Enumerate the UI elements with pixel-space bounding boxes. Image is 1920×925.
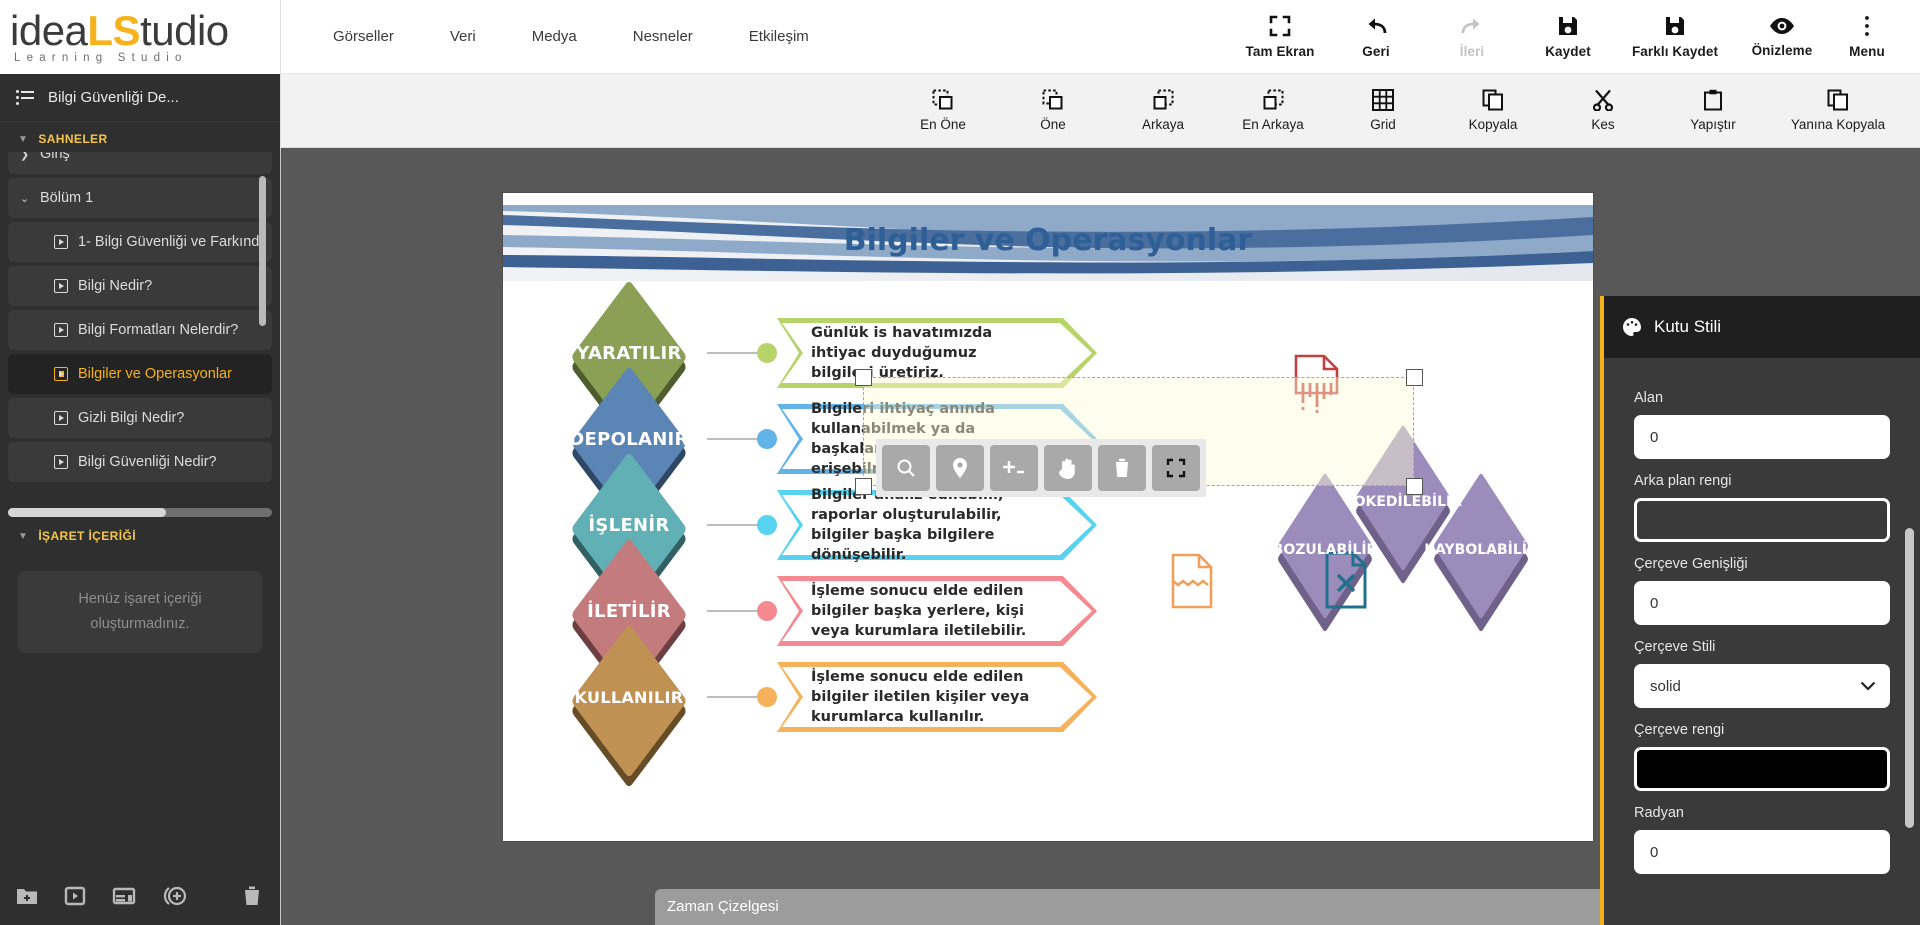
add-slide-icon[interactable] [64,886,86,906]
chevron-down-icon: ▼ [18,134,28,145]
diamond-label: YARATILIR [551,305,707,401]
border-width-input[interactable]: 0 [1634,581,1890,625]
sidebar-item-label: 1- Bilgi Güvenliği ve Farkınd [78,234,259,250]
diamond-label: DEPOLANIR [551,391,707,487]
undo-label: Geri [1362,44,1389,59]
slide-icon [54,367,68,381]
copy-label: Kopyala [1469,117,1518,132]
save-button[interactable]: Kaydet [1520,15,1616,59]
field-label-arka-plan-rengi: Arka plan rengi [1634,473,1890,489]
bring-forward-icon [1042,89,1064,111]
logo-wordmark: ideaLStudio [10,10,229,52]
logo-prefix: idea [10,7,87,54]
selection-handle-tl[interactable] [855,369,872,386]
slide-icon [54,279,68,293]
add-layout-icon[interactable] [112,886,136,906]
marks-empty-state: Henüz işaret içeriği oluşturmadınız. [18,571,262,653]
border-color-swatch[interactable] [1634,747,1890,791]
border-width-value: 0 [1650,595,1658,612]
diamond-yaratilir[interactable]: YARATILIR [551,305,707,401]
marks-empty-line-2: oluşturmadınız. [90,612,189,637]
add-folder-icon[interactable] [16,886,38,906]
undo-button[interactable]: Geri [1328,15,1424,59]
project-title: Bilgi Güvenliği De... [48,89,179,106]
field-label-alan: Alan [1634,390,1890,406]
trash-icon[interactable] [1098,445,1146,491]
redo-label: İleri [1460,44,1485,59]
banner-text: İşleme sonucu elde edilen bilgiler başka… [811,581,1037,641]
save-as-button[interactable]: Farklı Kaydet [1616,15,1734,59]
scenes-section-header[interactable]: ▼ SAHNELER [0,122,280,152]
chevron-down-icon [1860,681,1876,691]
grid-label: Grid [1370,117,1396,132]
chevron-right-icon: ❯ [20,152,30,161]
field-label-cerceve-stili: Çerçeve Stili [1634,639,1890,655]
right-panel-body: Alan 0 Arka plan rengi Çerçeve Genişliği… [1604,358,1920,925]
sidebar-item-label: Bilgi Formatları Nelerdir? [78,322,238,338]
sidebar-footer-toolbar [0,867,280,925]
scene-list: ❯ Giriş ⌄ Bölüm 1 1- Bilgi Güvenliği ve … [0,152,280,502]
preview-label: Önizleme [1752,43,1813,58]
paste-button[interactable]: Yapıştır [1658,89,1768,132]
sidebar-item-bolum-1[interactable]: ⌄ Bölüm 1 [8,178,272,218]
hand-icon[interactable] [1044,445,1092,491]
border-style-value: solid [1650,678,1681,695]
kebab-menu-icon [1863,15,1871,37]
menu-label: Menu [1849,44,1885,59]
torn-doc-icon [1171,553,1213,609]
selection-handle-bl[interactable] [855,478,872,495]
paste-icon [1703,89,1723,111]
sidebar-item-slide-1[interactable]: 1- Bilgi Güvenliği ve Farkınd [8,222,272,262]
scene-list-hscrollbar[interactable] [8,508,272,517]
connector-line [707,610,763,612]
slide-icon [54,235,68,249]
menu-button[interactable]: Menu [1830,15,1904,59]
save-icon [1557,15,1579,37]
send-to-back-icon [1262,89,1284,111]
tab-nesneler[interactable]: Nesneler [605,20,721,53]
connector-line [707,524,763,526]
expand-icon[interactable] [1152,445,1200,491]
sidebar-item-label: Bölüm 1 [40,190,93,206]
duplicate-button[interactable]: Yanına Kopyala [1768,89,1908,132]
right-properties-panel: Kutu Stili Alan 0 Arka plan rengi Çerçev… [1600,296,1920,925]
field-label-radyan: Radyan [1634,805,1890,821]
fullscreen-icon [1269,15,1291,37]
connector-knob [757,343,777,363]
connector-line [707,352,763,354]
step-row-5[interactable]: KULLANILIR İşleme sonucu elde edilen bil… [551,649,1171,745]
sidebar-item-label: Bilgi Güvenliği Nedir? [78,454,217,470]
diamond-label: KULLANILIR [551,649,707,745]
sidebar-item-slide-2[interactable]: Bilgi Nedir? [8,266,272,306]
connector-line [707,696,763,698]
infographic: Bilgiler ve Operasyonlar YARATILIR [503,193,1593,841]
radius-value: 0 [1650,844,1658,861]
top-toolbar: Görseller Veri Medya Nesneler Etkileşim … [280,0,1920,74]
fullscreen-button[interactable]: Tam Ekran [1232,15,1328,59]
alan-value: 0 [1650,429,1658,446]
tab-gorseller[interactable]: Görseller [305,20,422,53]
fullscreen-label: Tam Ekran [1246,44,1315,59]
right-panel-header: Kutu Stili [1604,296,1920,358]
banner-islenir[interactable]: Bilgiler analiz edilebilir, raporlar olu… [777,490,1097,560]
logo-suffix: tudio [140,7,229,54]
diamond-label: İŞLENİR [551,477,707,573]
main-area: Görseller Veri Medya Nesneler Etkileşim … [280,0,1920,925]
app-logo: ideaLStudio Learning Studio [0,0,280,74]
eye-icon [1769,16,1795,36]
duplicate-icon [1827,89,1849,111]
arrange-toolbar: En Öne Öne Arkaya En Arkaya [280,74,1920,148]
save-as-label: Farklı Kaydet [1632,44,1718,59]
diamond-depolanir[interactable]: DEPOLANIR [551,391,707,487]
object-float-toolbar [876,439,1206,497]
chevron-down-icon: ⌄ [20,192,30,205]
connector-knob [757,601,777,621]
background-color-swatch[interactable] [1634,498,1890,542]
send-to-back-label: En Arkaya [1242,117,1304,132]
marks-header-label: İŞARET İÇERİĞİ [38,529,136,543]
bring-to-front-icon [932,89,954,111]
connector-knob [757,515,777,535]
cut-button[interactable]: Kes [1548,89,1658,132]
sidebar-item-giris[interactable]: ❯ Giriş [8,152,272,174]
bring-to-front-label: En Öne [920,117,966,132]
list-icon [16,91,34,105]
diamond-iletilir[interactable]: İLETİLİR [551,563,707,659]
block-bozulabilir[interactable]: BOZULABİLİR [1237,503,1413,597]
logo-tagline: Learning Studio [10,53,229,65]
delete-icon[interactable] [242,885,262,907]
bring-forward-label: Öne [1040,117,1066,132]
send-backward-icon [1152,89,1174,111]
sidebar-item-label: Bilgi Nedir? [78,278,152,294]
project-title-row[interactable]: Bilgi Güvenliği De... [0,74,280,122]
slide-icon [54,411,68,425]
pin-icon[interactable] [936,445,984,491]
bring-forward-button[interactable]: Öne [998,89,1108,132]
redo-icon [1460,15,1484,37]
sidebar-item-slide-3[interactable]: Bilgi Formatları Nelerdir? [8,310,272,350]
slide-canvas[interactable]: Bilgiler ve Operasyonlar YARATILIR [503,193,1593,841]
diamond-islenir[interactable]: İŞLENİR [551,477,707,573]
send-backward-button[interactable]: Arkaya [1108,89,1218,132]
palette-icon [1622,317,1642,337]
block-label: BOZULABİLİR [1237,503,1413,597]
right-panel-title: Kutu Stili [1654,317,1721,337]
field-label-cerceve-rengi: Çerçeve rengi [1634,722,1890,738]
sidebar-item-label: Bilgiler ve Operasyonlar [78,366,232,382]
zoom-icon[interactable] [882,445,930,491]
connector-line [707,438,763,440]
preview-button[interactable]: Önizleme [1734,16,1830,58]
field-label-cerceve-genisligi: Çerçeve Genişliği [1634,556,1890,572]
tab-veri[interactable]: Veri [422,20,504,53]
banner-text: İşleme sonucu elde edilen bilgiler ileti… [811,667,1037,727]
editor-stage[interactable]: Bilgiler ve Operasyonlar YARATILIR [280,148,1920,925]
slide-icon [54,323,68,337]
zoom-in-out-icon[interactable] [990,445,1038,491]
sidebar-item-label: Gizli Bilgi Nedir? [78,410,184,426]
menu-tab-bar: Görseller Veri Medya Nesneler Etkileşim [281,20,837,53]
sidebar-item-slide-6[interactable]: Bilgi Güvenliği Nedir? [8,442,272,482]
marks-empty-line-1: Henüz işaret içeriği [78,587,201,612]
grid-icon [1372,89,1394,111]
sidebar-item-label: Giriş [40,152,70,162]
chevron-down-icon: ▼ [18,531,28,542]
alan-input[interactable]: 0 [1634,415,1890,459]
scene-list-scrollbar[interactable] [259,176,266,326]
slide-title: Bilgiler ve Operasyonlar [503,223,1593,258]
send-to-back-button[interactable]: En Arkaya [1218,89,1328,132]
scenes-header-label: SAHNELER [38,132,107,146]
block-label: KAYBOLABİLİR [1393,503,1569,597]
copy-button[interactable]: Kopyala [1438,89,1548,132]
banner-text: Günlük is havatımızda ihtiyac duyduğumuz… [811,323,1037,383]
redo-button[interactable]: İleri [1424,15,1520,59]
banner-iletilir[interactable]: İşleme sonucu elde edilen bilgiler başka… [777,576,1097,646]
cut-icon [1592,89,1614,111]
grid-button[interactable]: Grid [1328,89,1438,132]
right-panel-scrollbar[interactable] [1905,528,1914,828]
send-backward-label: Arkaya [1142,117,1184,132]
marks-section-header[interactable]: ▼ İŞARET İÇERİĞİ [0,519,280,549]
connector-knob [757,429,777,449]
connector-knob [757,687,777,707]
selection-handle-br[interactable] [1406,478,1423,495]
sidebar-item-slide-4[interactable]: Bilgiler ve Operasyonlar [8,354,272,394]
tab-etkilesim[interactable]: Etkileşim [721,20,837,53]
top-action-buttons: Tam Ekran Geri İleri [1232,15,1920,59]
radius-input[interactable]: 0 [1634,830,1890,874]
cut-label: Kes [1591,117,1614,132]
left-sidebar: ideaLStudio Learning Studio Bilgi Güvenl… [0,0,280,925]
sidebar-item-slide-5[interactable]: Gizli Bilgi Nedir? [8,398,272,438]
diamond-label: İLETİLİR [551,563,707,659]
paste-label: Yapıştır [1690,117,1736,132]
step-row-4[interactable]: İLETİLİR İşleme sonucu elde edilen bilgi… [551,563,1171,659]
banner-text: Bilgiler analiz edilebilir, raporlar olu… [811,485,1037,565]
timeline-tab-label: Zaman Çizelgesi [667,898,779,915]
undo-icon [1364,15,1388,37]
border-style-select[interactable]: solid [1634,664,1890,708]
slide-icon [54,455,68,469]
duplicate-label: Yanına Kopyala [1791,117,1885,132]
diamond-kullanilir[interactable]: KULLANILIR [551,649,707,745]
add-element-icon[interactable] [162,885,188,907]
app-root: ideaLStudio Learning Studio Bilgi Güvenl… [0,0,1920,925]
save-as-icon [1664,15,1686,37]
copy-icon [1482,89,1504,111]
tab-medya[interactable]: Medya [504,20,605,53]
logo-highlight: LS [87,7,140,54]
selection-handle-tr[interactable] [1406,369,1423,386]
block-kaybolabilir[interactable]: KAYBOLABİLİR [1393,503,1569,597]
save-label: Kaydet [1545,44,1591,59]
banner-kullanilir[interactable]: İşleme sonucu elde edilen bilgiler ileti… [777,662,1097,732]
bring-to-front-button[interactable]: En Öne [888,89,998,132]
